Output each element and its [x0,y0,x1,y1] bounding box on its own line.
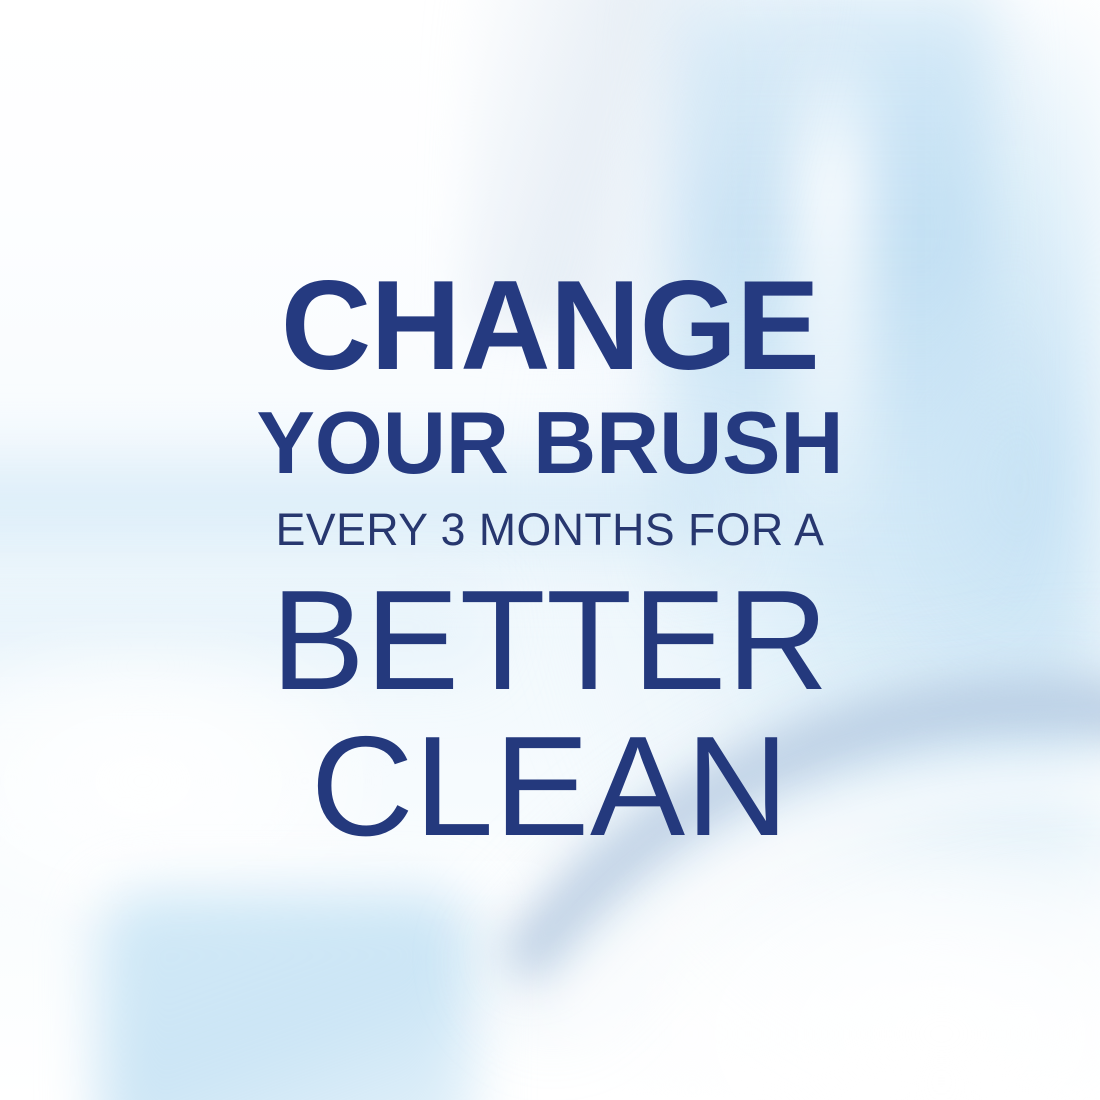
headline-line-change: CHANGE [8,262,1092,389]
poster-canvas: CHANGE YOUR BRUSH EVERY 3 MONTHS FOR A B… [0,0,1100,1100]
headline-line-better: BETTER [6,570,1095,712]
background-bottom-left-blob [99,891,473,1100]
headline-line-clean: CLEAN [0,716,1100,858]
headline-block: CHANGE YOUR BRUSH EVERY 3 MONTHS FOR A B… [0,262,1100,858]
background-bottom-right-clearing [638,836,1100,1100]
headline-line-your-brush: YOUR BRUSH [3,399,1098,487]
headline-line-every-3-months: EVERY 3 MONTHS FOR A [6,507,1095,552]
